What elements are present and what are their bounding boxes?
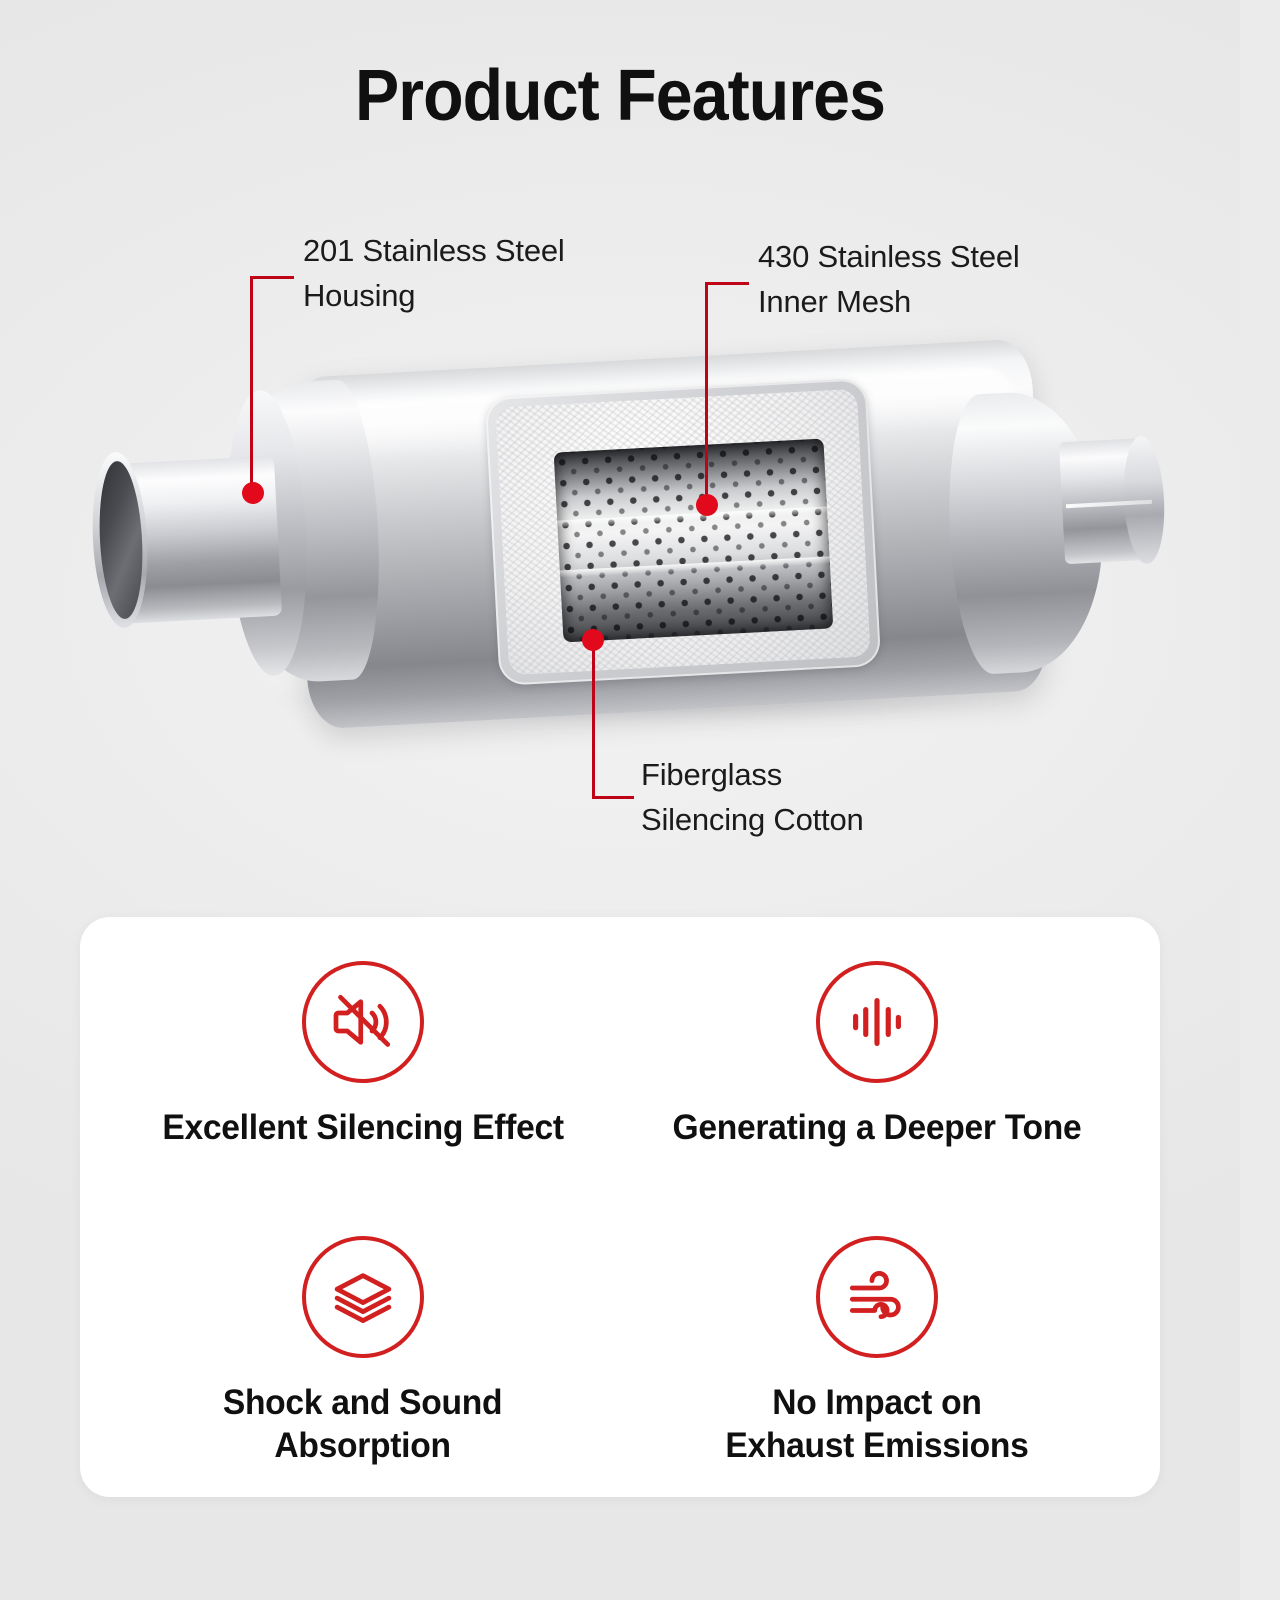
fiberglass-packing	[495, 389, 871, 676]
sound-wave-icon	[816, 961, 938, 1083]
mute-speaker-icon	[302, 961, 424, 1083]
wind-flow-icon	[816, 1236, 938, 1358]
callout-label-housing: 201 Stainless Steel Housing	[303, 228, 565, 319]
feature-label-emissions: No Impact on Exhaust Emissions	[725, 1382, 1028, 1467]
page-title: Product Features	[50, 60, 1191, 132]
leader-line-mesh-vertical	[705, 282, 708, 506]
feature-item-silencing: Excellent Silencing Effect	[106, 955, 620, 1214]
leader-line-cotton-horizontal	[592, 796, 634, 799]
layers-stack-icon	[302, 1236, 424, 1358]
feature-label-silencing: Excellent Silencing Effect	[162, 1107, 563, 1150]
leader-line-housing-vertical	[250, 276, 253, 494]
leader-line-housing-horizontal	[250, 276, 294, 279]
callout-label-inner-mesh: 430 Stainless Steel Inner Mesh	[758, 234, 1020, 325]
features-card: Excellent Silencing Effect Generating a …	[80, 917, 1160, 1497]
feature-item-deeper-tone: Generating a Deeper Tone	[620, 955, 1134, 1214]
feature-label-absorption: Shock and Sound Absorption	[223, 1382, 502, 1467]
mesh-holes-row-b	[554, 439, 834, 643]
leader-line-cotton-vertical	[592, 645, 595, 799]
product-illustration	[0, 330, 1240, 750]
perforated-tube	[554, 439, 834, 643]
callout-label-cotton: Fiberglass Silencing Cotton	[641, 752, 864, 843]
leader-line-mesh-horizontal	[705, 282, 749, 285]
feature-item-absorption: Shock and Sound Absorption	[106, 1214, 620, 1473]
callout-dot-mesh	[696, 494, 718, 516]
infographic-page: Product Features	[0, 0, 1240, 1600]
callout-dot-cotton	[582, 629, 604, 651]
cutaway-window	[485, 378, 882, 686]
callout-dot-housing	[242, 482, 264, 504]
feature-label-deeper-tone: Generating a Deeper Tone	[673, 1107, 1082, 1150]
feature-item-emissions: No Impact on Exhaust Emissions	[620, 1214, 1134, 1473]
features-grid: Excellent Silencing Effect Generating a …	[80, 917, 1160, 1497]
